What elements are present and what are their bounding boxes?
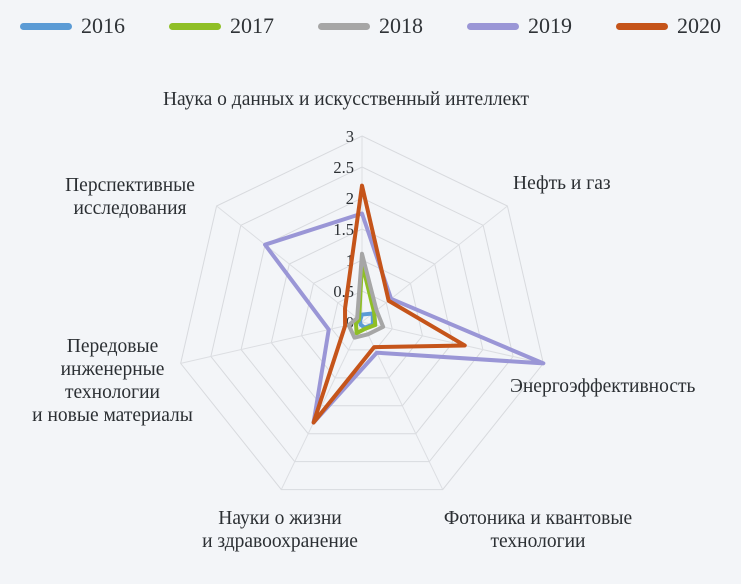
radar-plot-svg: 00.511.522.53: [0, 52, 741, 584]
legend-swatch-2020: [616, 23, 668, 30]
radial-tick-2.5: 2.5: [333, 158, 354, 177]
axis-label-oil-gas: Нефть и газ: [513, 172, 673, 195]
chart-legend: 20162017201820192020: [0, 0, 741, 52]
legend-label-2020: 2020: [677, 15, 721, 37]
legend-label-2018: 2018: [379, 15, 423, 37]
radar-chart: 00.511.522.53 Наука о данных и искусстве…: [0, 52, 741, 584]
legend-item-2019[interactable]: 2019: [467, 15, 572, 37]
axis-label-prospective: Перспективные исследования: [30, 174, 230, 220]
legend-swatch-2018: [318, 23, 370, 30]
legend-label-2017: 2017: [230, 15, 274, 37]
axis-label-energy: Энергоэффективность: [510, 375, 741, 398]
legend-swatch-2019: [467, 23, 519, 30]
legend-item-2020[interactable]: 2020: [616, 15, 721, 37]
legend-swatch-2016: [20, 23, 72, 30]
axis-label-photonics: Фотоника и квантовые технологии: [418, 507, 658, 553]
grid-spoke-1: [362, 206, 507, 322]
axis-label-data-science: Наука о данных и искусственный интеллект: [131, 88, 561, 111]
axis-label-engineering: Передовые инженерные технологии и новые …: [5, 335, 220, 427]
legend-swatch-2017: [169, 23, 221, 30]
axis-label-life-sciences: Науки о жизни и здравоохранение: [160, 507, 400, 553]
legend-label-2016: 2016: [81, 15, 125, 37]
legend-label-2019: 2019: [528, 15, 572, 37]
radial-tick-3: 3: [346, 127, 354, 146]
radial-tick-2: 2: [346, 189, 354, 208]
legend-item-2017[interactable]: 2017: [169, 15, 274, 37]
legend-item-2018[interactable]: 2018: [318, 15, 423, 37]
radial-tick-0.5: 0.5: [333, 282, 354, 301]
series-2019[interactable]: [265, 214, 543, 423]
legend-item-2016[interactable]: 2016: [20, 15, 125, 37]
